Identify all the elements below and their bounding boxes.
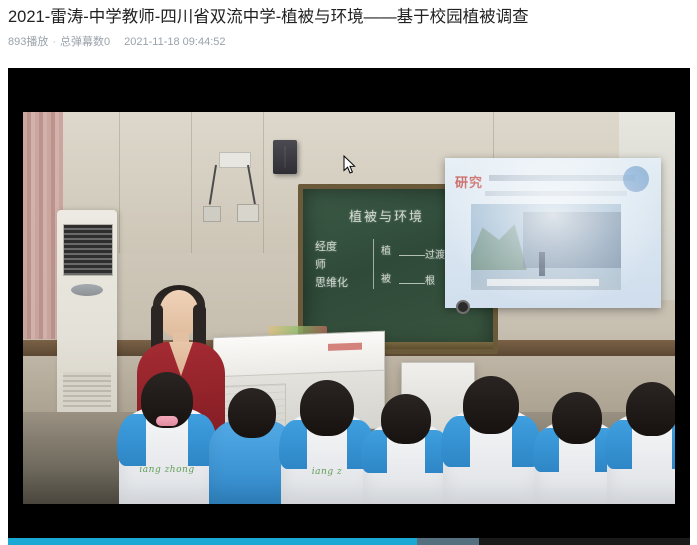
student-head	[463, 376, 519, 434]
blackboard-mid-top: 过渡	[425, 251, 445, 261]
blackboard-left-line-3: 思维化	[315, 277, 348, 288]
student-hairband	[156, 416, 178, 426]
video-meta: 893播放 · 总弹幕数0 2021-11-18 09:44:52	[8, 35, 697, 49]
student-figure	[443, 376, 539, 504]
blackboard-mid-bottom: 根	[425, 277, 435, 287]
view-count: 893播放	[8, 35, 48, 49]
student-sleeve-left	[533, 428, 558, 472]
student-sleeve-left	[117, 414, 146, 466]
lectern-top	[214, 332, 384, 378]
progress-played	[8, 538, 417, 545]
wall-seam	[191, 112, 192, 253]
wall-seam	[119, 112, 120, 253]
wall-speaker-icon	[273, 140, 297, 174]
page-root: 2021-雷涛-中学教师-四川省双流中学-植被与环境——基于校园植被调查 893…	[0, 0, 697, 545]
student-head	[381, 394, 431, 444]
student-figure	[363, 394, 449, 504]
video-stage[interactable]: 植被与环境 经度 师 思维化 植 被 过渡 根 水分 热量	[23, 112, 675, 504]
ac-brand-badge	[71, 284, 103, 296]
ac-lower-vent	[63, 372, 111, 408]
page-title: 2021-雷涛-中学教师-四川省双流中学-植被与环境——基于校园植被调查	[8, 6, 697, 28]
blackboard-arrow	[399, 255, 425, 256]
student-figure	[607, 382, 675, 504]
air-conditioner	[57, 210, 117, 416]
student-sleeve-left	[279, 420, 307, 469]
danmaku-count: 总弹幕数0	[60, 35, 110, 49]
student-head	[552, 392, 602, 444]
blackboard-left-line-2: 师	[315, 259, 326, 270]
blackboard-mid-left-bottom: 被	[381, 275, 391, 285]
blackboard-brace	[373, 239, 374, 289]
student-figure: iang zhong	[119, 372, 215, 504]
student-head	[626, 382, 675, 436]
student-head	[300, 380, 354, 436]
recording-camera	[237, 204, 259, 222]
student-figure: iang z	[281, 380, 373, 504]
student-sleeve-left	[361, 430, 387, 473]
meta-separator: ·	[52, 35, 56, 49]
blackboard-mid-left-top: 植	[381, 247, 391, 257]
video-progress-bar[interactable]	[8, 538, 690, 545]
blackboard-arrow	[399, 283, 425, 284]
student-uniform-text: iang zhong	[139, 465, 194, 475]
ac-vent-grill	[63, 224, 113, 276]
blackboard-title: 植被与环境	[349, 211, 424, 224]
projector-screen: 研究	[445, 158, 661, 308]
classroom-scene: 植被与环境 经度 师 思维化 植 被 过渡 根 水分 热量	[23, 112, 675, 504]
projector-glow	[445, 158, 661, 308]
camera-controller-box	[203, 206, 221, 222]
student-sleeve-left	[441, 416, 470, 467]
wall-seam	[263, 112, 264, 253]
student-sleeve-left	[605, 420, 632, 469]
student-uniform-text: iang z	[312, 467, 342, 477]
blackboard-left-line-1: 经度	[315, 241, 337, 252]
publish-datetime: 2021-11-18 09:44:52	[124, 35, 225, 49]
video-player[interactable]: 植被与环境 经度 师 思维化 植 被 过渡 根 水分 热量	[8, 68, 690, 538]
lectern-label	[328, 343, 362, 351]
camera-lens-icon	[456, 300, 470, 314]
student-head	[228, 388, 276, 438]
video-header: 2021-雷涛-中学教师-四川省双流中学-植被与环境——基于校园植被调查 893…	[0, 0, 697, 68]
